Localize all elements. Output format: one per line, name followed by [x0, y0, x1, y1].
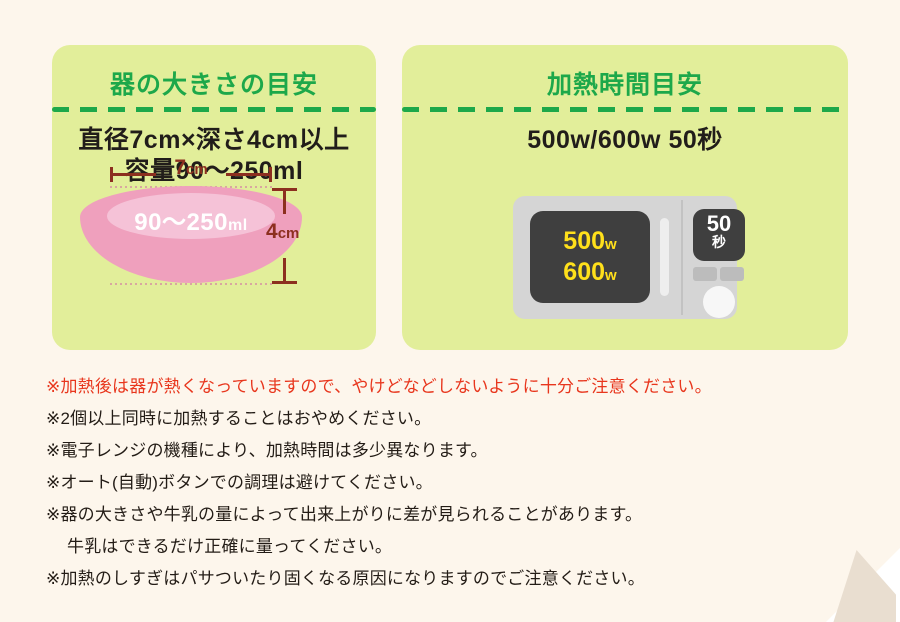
height-stem-top	[283, 190, 286, 214]
microwave-door-window: 500w 600w	[530, 211, 650, 303]
heating-spec-text: 500w/600w 50秒	[402, 125, 848, 156]
notes-list: ※加熱後は器が熱くなっていますので、やけどなどしないように十分ご注意ください。 …	[46, 378, 836, 602]
bowl-height-dimension: 4cm	[266, 180, 324, 290]
bowl-diagram: 7cm 90〜250ml 4cm	[52, 150, 324, 290]
page-corner-fold	[828, 550, 896, 622]
microwave-timer-display: 50 秒	[693, 209, 745, 261]
microwave-wattage-label: 500w 600w	[530, 226, 650, 287]
wattage-1-value: 500	[563, 227, 605, 255]
note-item: 牛乳はできるだけ正確に量ってください。	[46, 538, 836, 555]
timer-seconds-unit: 秒	[693, 235, 745, 250]
bowl-inner-rim: 90〜250ml	[107, 193, 276, 239]
bowl-height-unit: cm	[278, 225, 300, 242]
note-item: ※2個以上同時に加熱することはおやめください。	[46, 410, 836, 427]
note-item: ※器の大きさや牛乳の量によって出来上がりに差が見られることがあります。	[46, 506, 836, 523]
note-item: ※電子レンジの機種により、加熱時間は多少異なります。	[46, 442, 836, 459]
bowl-volume-unit: ml	[228, 217, 248, 234]
wattage-line-2: 600w	[563, 258, 616, 286]
timer-seconds-value: 50	[693, 213, 745, 235]
bowl-width-unit: cm	[186, 161, 208, 178]
bowl-height-value: 4	[266, 220, 278, 243]
bowl-volume-label: 90〜250ml	[107, 202, 276, 237]
wattage-2-value: 600	[563, 258, 605, 286]
heating-card-divider	[402, 107, 848, 112]
bowl-height-label: 4cm	[266, 220, 324, 244]
height-stem-bottom	[283, 258, 286, 282]
microwave-button-right	[720, 267, 744, 281]
vessel-card-title: 器の大きさの目安	[52, 65, 376, 101]
instruction-card-page: 器の大きさの目安 直径7cm×深さ4cm以上 容量90〜250ml 7cm 90…	[0, 0, 900, 622]
wattage-line-1: 500w	[563, 227, 616, 255]
microwave-door-handle	[660, 218, 669, 296]
vessel-card-divider	[52, 107, 376, 112]
heating-card-title: 加熱時間目安	[402, 65, 848, 101]
bowl-width-value: 7	[174, 156, 186, 179]
note-item: ※オート(自動)ボタンでの調理は避けてください。	[46, 474, 836, 491]
microwave-panel-seam	[681, 200, 683, 315]
microwave-button-left	[693, 267, 717, 281]
microwave-dial-knob	[703, 286, 735, 318]
bowl-guide-bottom	[110, 283, 272, 285]
bowl-volume-value: 90〜250	[134, 209, 228, 236]
height-cap-bottom	[272, 281, 297, 284]
note-item: ※加熱後は器が熱くなっていますので、やけどなどしないように十分ご注意ください。	[46, 378, 836, 395]
heating-spec-line1: 500w/600w 50秒	[527, 126, 723, 154]
bowl-width-label: 7cm	[110, 156, 272, 180]
microwave-illustration: 500w 600w 50 秒	[513, 196, 737, 319]
note-item: ※加熱のしすぎはパサついたり固くなる原因になりますのでご注意ください。	[46, 570, 836, 587]
timer-value-group: 50 秒	[693, 213, 745, 250]
bowl-width-dimension: 7cm	[110, 156, 272, 182]
wattage-1-unit: w	[605, 236, 617, 253]
wattage-2-unit: w	[605, 267, 617, 284]
